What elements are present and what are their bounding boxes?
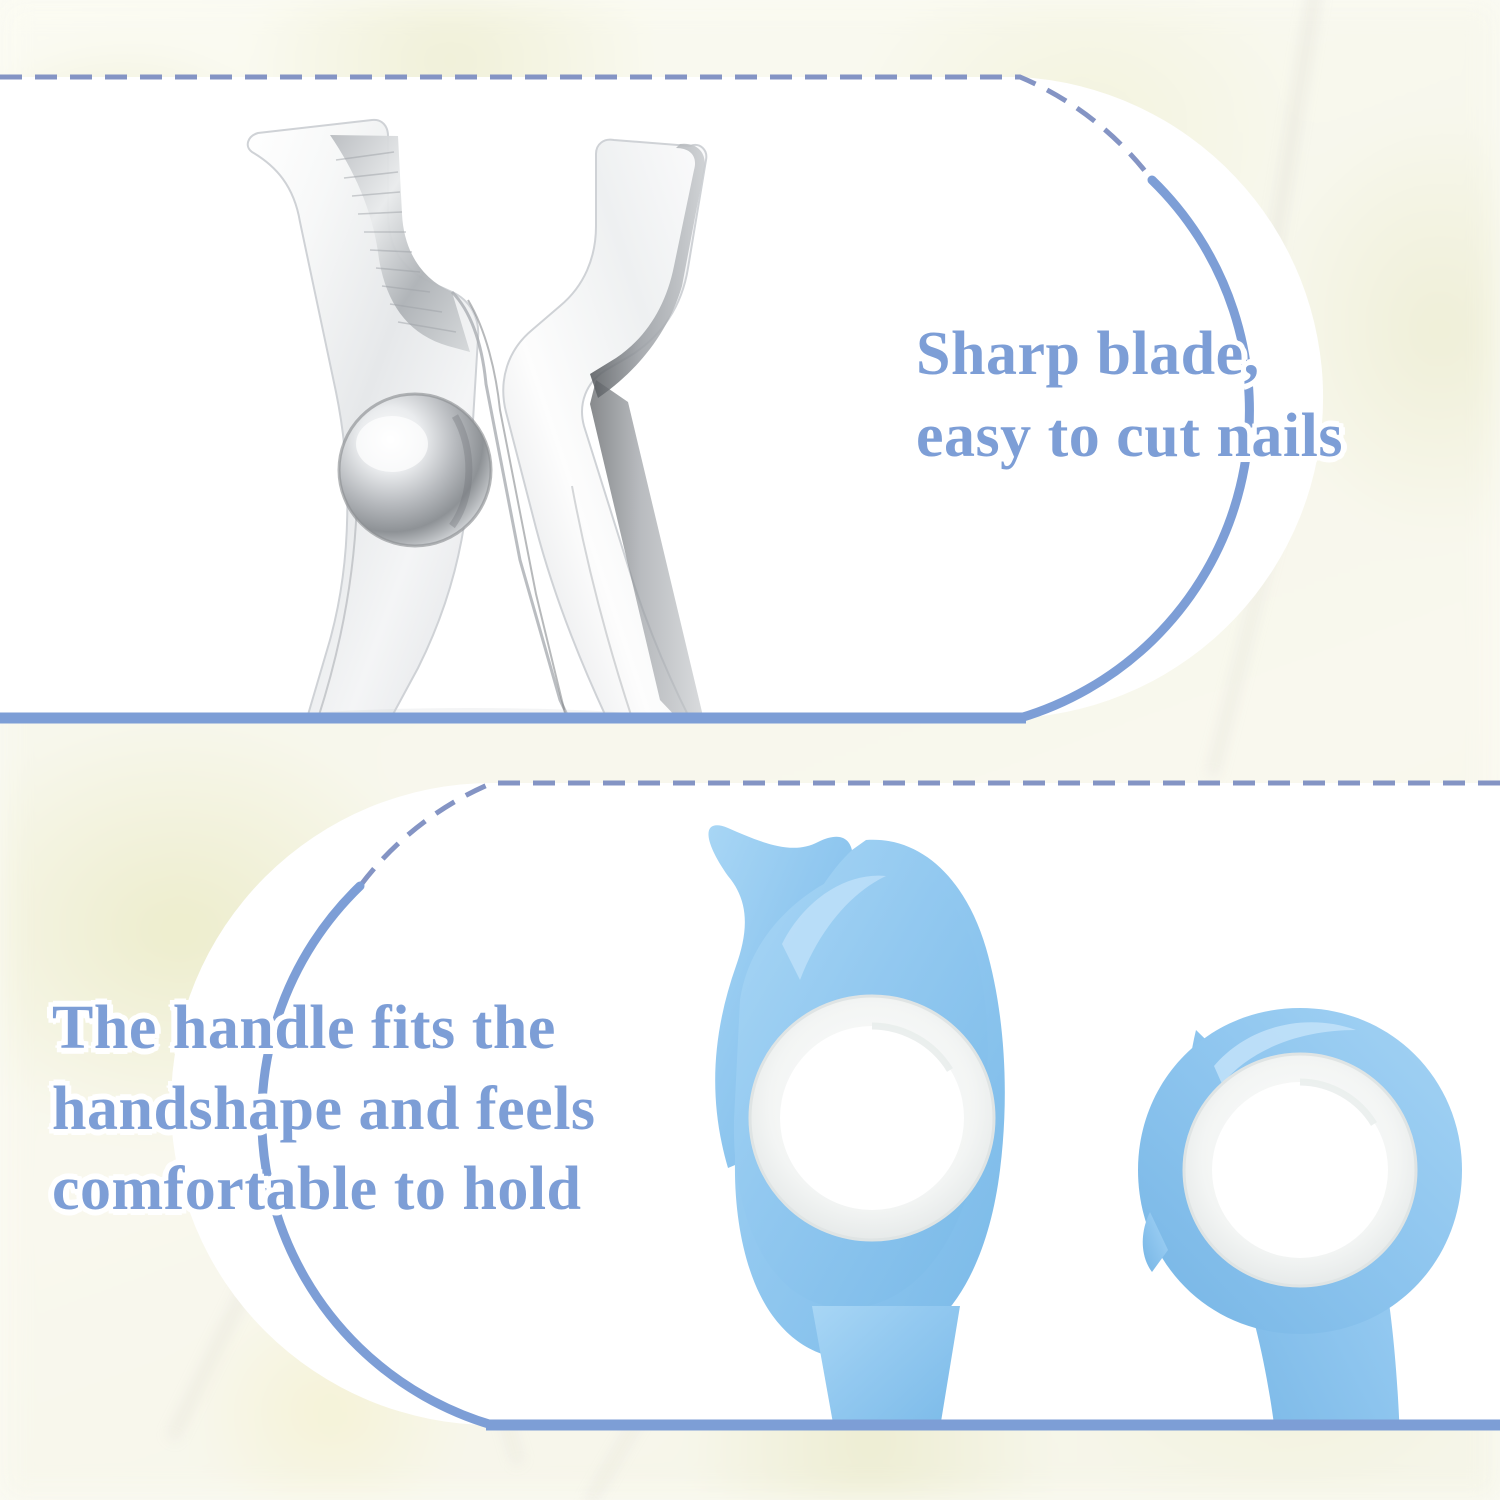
infographic-canvas: Sharp blade, easy to cut nails The handl… [0, 0, 1500, 1500]
caption-sharp-blade: Sharp blade, easy to cut nails [916, 314, 1343, 478]
caption-comfortable-handle: The handle fits the handshape and feels … [52, 988, 596, 1230]
